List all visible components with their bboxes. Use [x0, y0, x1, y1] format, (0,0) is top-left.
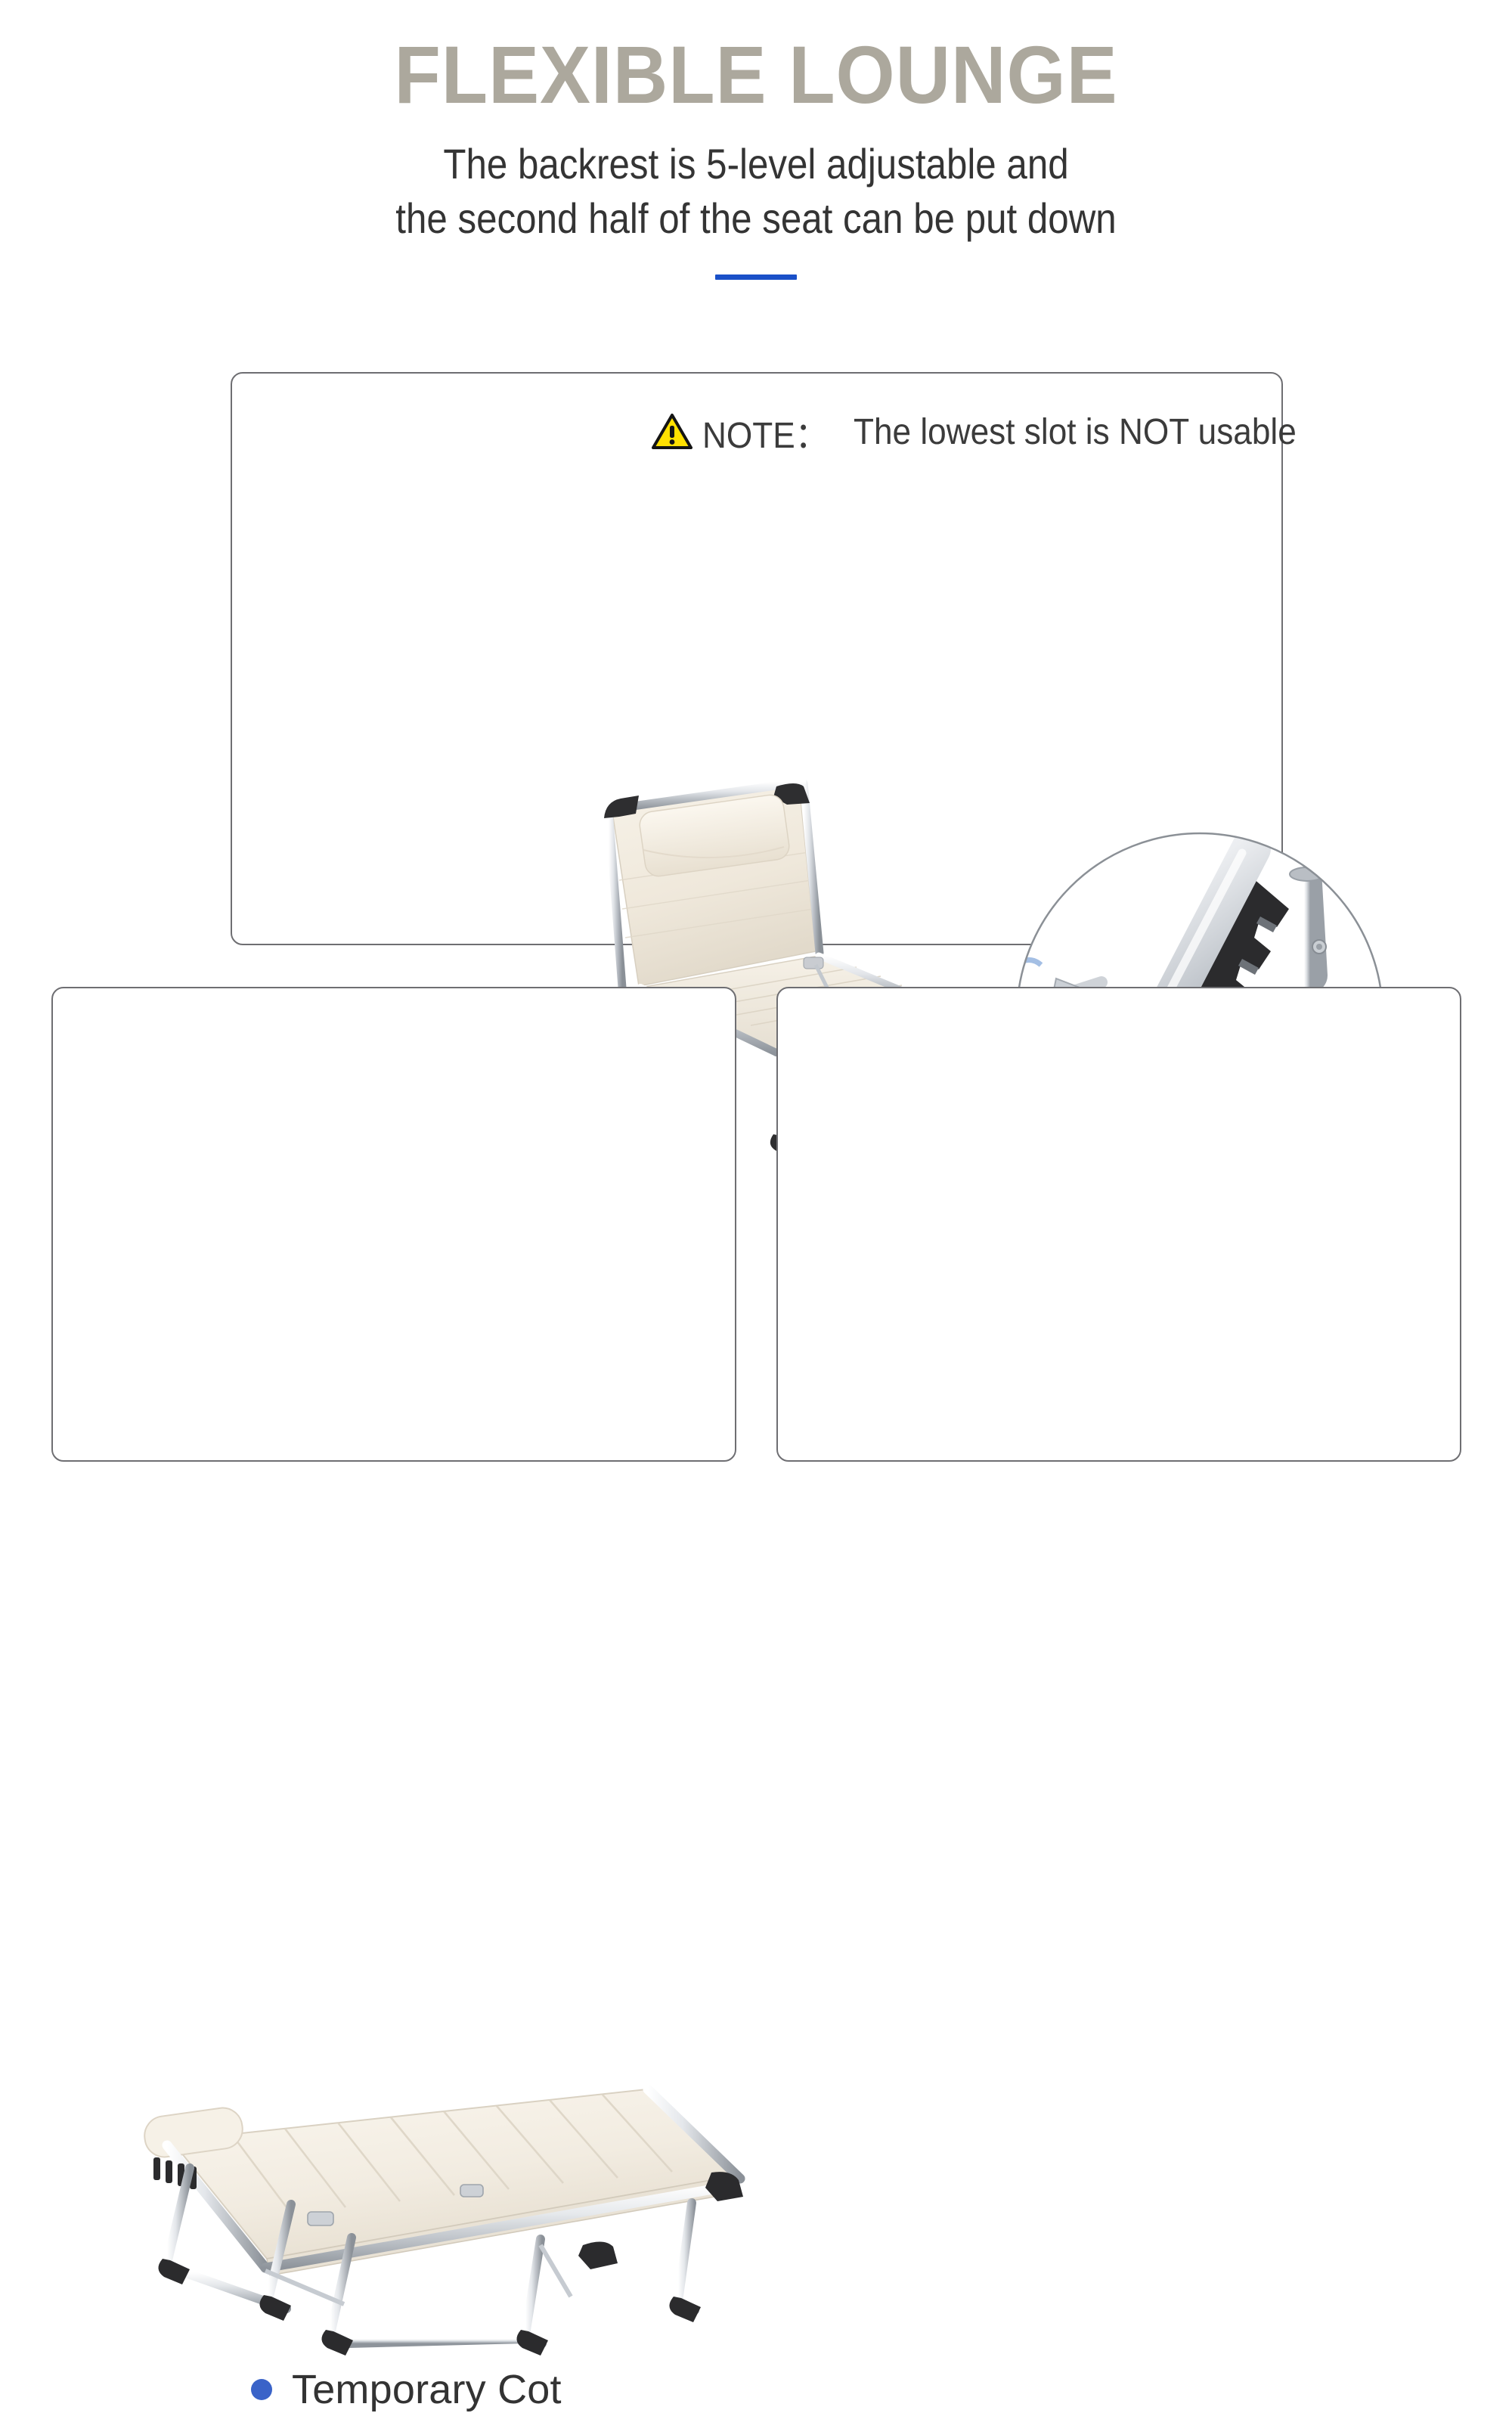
note-text: The lowest slot is NOT usable: [854, 411, 1297, 453]
page-header: FLEXIBLE LOUNGE The backrest is 5-level …: [0, 0, 1512, 280]
subtitle-line-2: the second half of the seat can be put d…: [91, 191, 1421, 246]
note-label: NOTE：: [702, 405, 829, 458]
card-temporary-cot: Temporary Cot: [51, 987, 736, 1462]
accent-divider: [715, 274, 797, 280]
caption-label: Temporary Cot: [292, 2366, 562, 2413]
card-armless-chair: Armless Chair: [776, 987, 1461, 1462]
page-title: FLEXIBLE LOUNGE: [53, 32, 1459, 117]
page-subtitle: The backrest is 5-level adjustable and t…: [91, 137, 1421, 245]
warning-triangle-icon: [652, 413, 692, 451]
card-sun-lounger: NOTE： The lowest slot is NOT usable: [231, 372, 1283, 945]
subtitle-line-1: The backrest is 5-level adjustable and: [91, 137, 1421, 191]
temporary-cot-product-image: [117, 2077, 782, 2380]
divider-wrapper: [0, 274, 1512, 280]
caption-temporary-cot: Temporary Cot: [251, 2366, 562, 2413]
note-row: NOTE： The lowest slot is NOT usable: [652, 405, 1335, 458]
bullet-icon: [251, 2379, 272, 2400]
